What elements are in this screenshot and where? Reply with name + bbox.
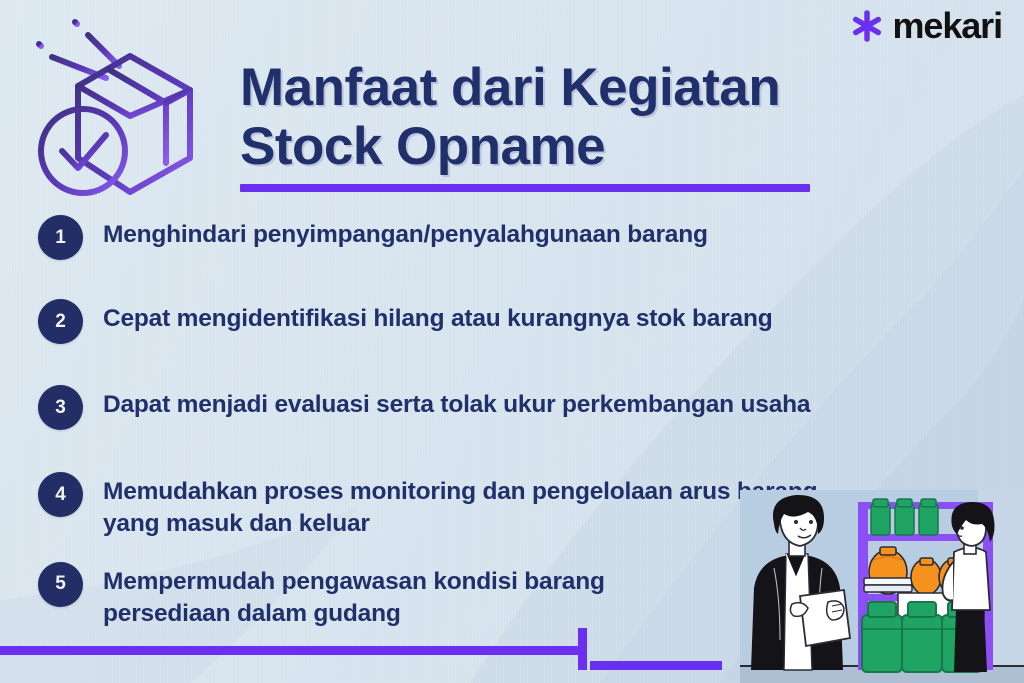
package-check-icon	[26, 8, 226, 204]
stacked-trays	[864, 578, 912, 592]
logo-wordmark: mekari	[893, 8, 1003, 44]
list-item-text: Dapat menjadi evaluasi serta tolak ukur …	[103, 384, 810, 421]
page-title: Manfaat dari Kegiatan Stock Opname	[240, 58, 980, 177]
list-item-text: Cepat mengidentifikasi hilang atau kuran…	[103, 298, 773, 335]
list-number-badge: 3	[38, 385, 83, 430]
list-item-text: Memudahkan proses monitoring dan pengelo…	[103, 471, 817, 540]
clipboard	[800, 590, 850, 646]
list-number-badge: 1	[38, 215, 83, 260]
list-item: 3 Dapat menjadi evaluasi serta tolak uku…	[38, 384, 998, 430]
list-item: 1 Menghindari penyimpangan/penyalahgunaa…	[38, 214, 998, 260]
mekari-logo: mekari	[850, 8, 1003, 44]
bottom-rule-tick	[578, 628, 587, 670]
page-title-block: Manfaat dari Kegiatan Stock Opname	[240, 58, 980, 192]
bottom-rule-short	[590, 661, 722, 670]
title-underline	[240, 184, 810, 192]
infographic-poster: mekari	[0, 0, 1024, 683]
list-item-text: Menghindari penyimpangan/penyalahgunaan …	[103, 214, 708, 251]
list-item-text: Mempermudah pengawasan kondisi barang pe…	[103, 561, 605, 630]
shelf-jars-top	[871, 499, 938, 535]
check-circle	[41, 109, 125, 193]
list-item: 2 Cepat mengidentifikasi hilang atau kur…	[38, 298, 998, 344]
box-3d	[78, 56, 190, 192]
list-number-badge: 5	[38, 562, 83, 607]
bottom-rule-long	[0, 646, 578, 655]
warehouse-stocktaking-illustration	[740, 490, 1024, 683]
list-number-badge: 4	[38, 472, 83, 517]
mekari-star-icon	[850, 9, 884, 43]
list-number-badge: 2	[38, 299, 83, 344]
